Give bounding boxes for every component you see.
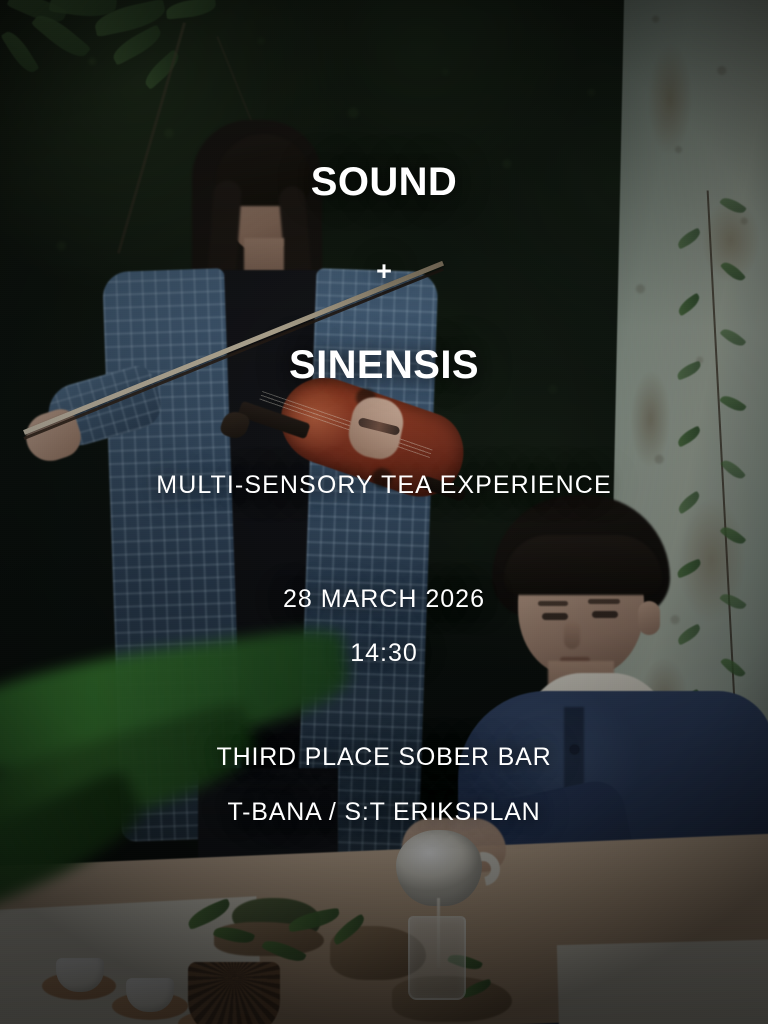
plus-connector-icon: +	[0, 258, 768, 285]
event-time: 14:30	[0, 641, 768, 666]
poster-title-primary: SOUND	[0, 162, 768, 202]
event-venue: THIRD PLACE SOBER BAR	[0, 745, 768, 770]
event-poster: SOUND + SINENSIS MULTI-SENSORY TEA EXPER…	[0, 0, 768, 1024]
poster-title-secondary: SINENSIS	[0, 345, 768, 385]
event-date: 28 MARCH 2026	[0, 587, 768, 612]
event-transit-directions: T-BANA / S:T ERIKSPLAN	[0, 800, 768, 825]
poster-tagline: MULTI-SENSORY TEA EXPERIENCE	[0, 473, 768, 498]
poster-text-overlay: SOUND + SINENSIS MULTI-SENSORY TEA EXPER…	[0, 0, 768, 1024]
